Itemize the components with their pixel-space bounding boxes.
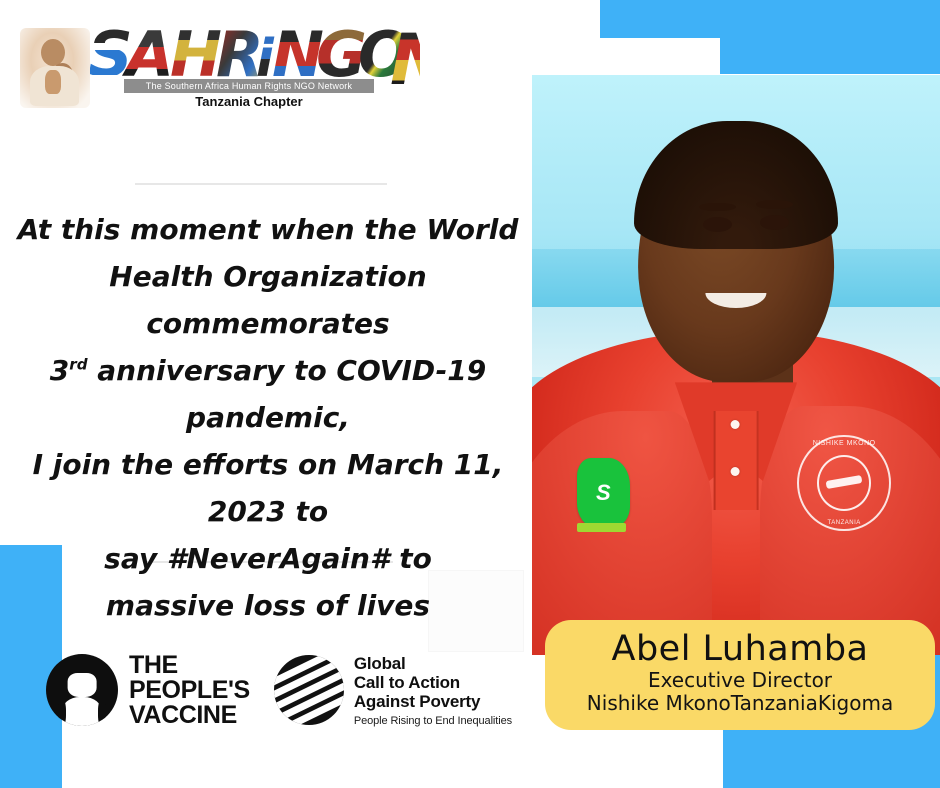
decor-white-strip [480, 38, 720, 78]
sahringon-tagline: The Southern Africa Human Rights NGO Net… [124, 79, 374, 93]
photo-shoulder-left [532, 411, 712, 655]
photo-shirt-button-bottom [731, 467, 740, 476]
quote-line-4: I join the efforts on March 11, 2023 to [0, 441, 536, 535]
peoples-vaccine-line-2: PEOPLE'S [129, 678, 250, 703]
sahringon-chapter: Tanzania Chapter [124, 94, 374, 109]
peoples-vaccine-logo: THE PEOPLE'S VACCINE [46, 653, 250, 728]
shirt-logo-top-text: NISHIKE MKONO [799, 440, 889, 447]
praying-child-photo-icon [20, 28, 90, 108]
gcap-subtitle: People Rising to End Inequalities [354, 716, 512, 727]
gcap-line-2: Call to Action [354, 673, 512, 692]
quote-line-3-ordinal: rd [69, 356, 87, 374]
peoples-vaccine-line-1: THE [129, 653, 250, 678]
striped-globe-icon [274, 655, 344, 725]
quote-line-2: Health Organization commemorates [0, 253, 536, 347]
quote-line-5: say #NeverAgain# to [0, 535, 536, 582]
quote-line-3: 3rd anniversary to COVID-19 pandemic, [0, 347, 536, 441]
sahringon-logo: S A H R i N G O N The Southern Africa Hu… [20, 22, 420, 118]
person-role: Executive Director [648, 669, 832, 692]
peoples-vaccine-wordmark: THE PEOPLE'S VACCINE [129, 653, 250, 728]
quote-line-6: massive loss of lives [0, 582, 536, 629]
quote-line-3-num: 3 [50, 354, 69, 387]
quote-line-1: At this moment when the World [0, 206, 536, 253]
gcap-logo: Global Call to Action Against Poverty Pe… [274, 654, 512, 727]
shirt-org-logo-icon: NISHIKE MKONO TANZANIA [797, 435, 891, 532]
partner-logos: THE PEOPLE'S VACCINE Global Call to Acti… [46, 640, 516, 740]
name-plate: Abel Luhamba Executive Director Nishike … [545, 620, 935, 730]
portrait-photo: S NISHIKE MKONO TANZANIA [532, 75, 940, 655]
gcap-wordmark: Global Call to Action Against Poverty Pe… [354, 654, 512, 727]
person-name: Abel Luhamba [612, 631, 869, 668]
gcap-line-3: Against Poverty [354, 692, 512, 711]
poster-canvas: S A H R i N G O N The Southern Africa Hu… [0, 0, 940, 788]
person-in-circle-icon [46, 654, 118, 726]
svg-text:N: N [390, 22, 420, 98]
shirt-logo-bottom-text: TANZANIA [799, 520, 889, 526]
divider-top [135, 183, 387, 185]
photo-shirt-button-top [731, 420, 740, 429]
quote-block: At this moment when the World Health Org… [0, 206, 536, 629]
shirt-badge-base [577, 523, 626, 532]
quote-line-3-rest: anniversary to COVID-19 pandemic, [88, 354, 487, 434]
shirt-logo-handshake-icon [817, 455, 871, 511]
person-organization: Nishike MkonoTanzaniaKigoma [587, 692, 893, 715]
gcap-line-1: Global [354, 654, 512, 673]
photo-brow-right [756, 200, 793, 209]
photo-eye-left [703, 217, 732, 232]
shirt-badge-s-icon: S [577, 458, 630, 528]
shirt-badge-letter: S [596, 480, 611, 506]
peoples-vaccine-line-3: VACCINE [129, 703, 250, 728]
